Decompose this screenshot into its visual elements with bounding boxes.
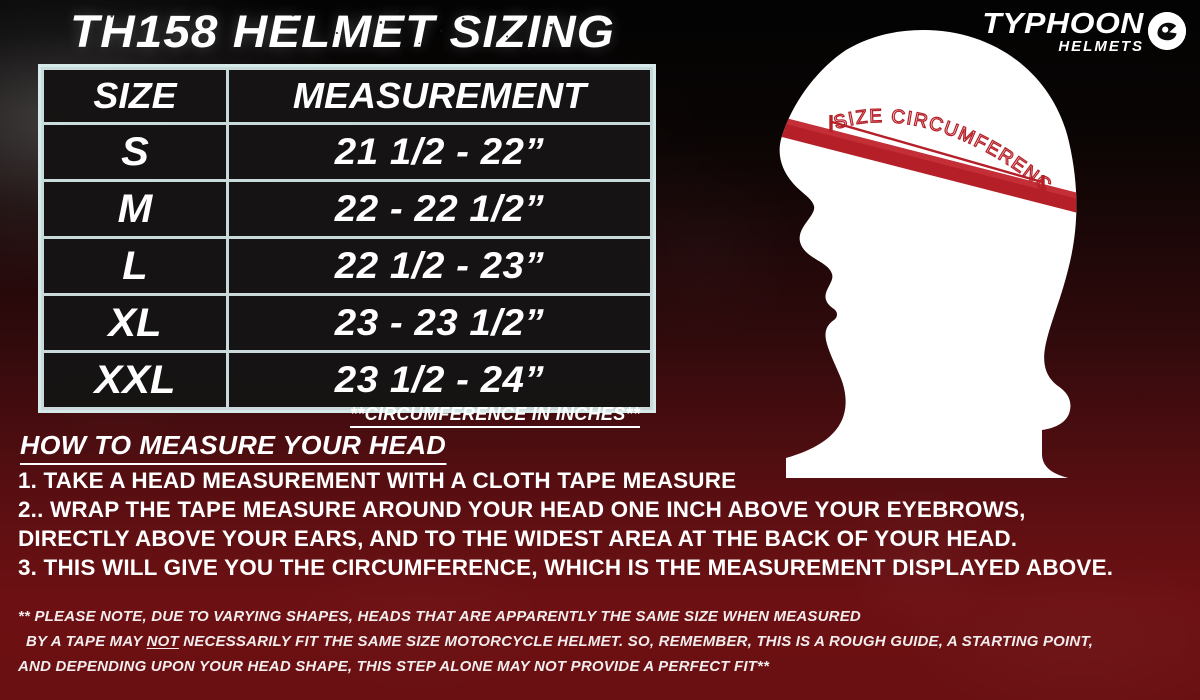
helmet-sizing-infographic: TH158 HELMET SIZING TYPHOON HELMETS SIZE… (0, 0, 1200, 700)
disclaimer-line-1: ** PLEASE NOTE, DUE TO VARYING SHAPES, H… (18, 604, 1188, 629)
measurement-value: 22 1/2 - 23” (221, 245, 659, 287)
table-header-size-label: SIZE (40, 75, 229, 117)
disclaimer-line-2-part-b: NECESSARILY FIT THE SAME SIZE MOTORCYCLE… (179, 633, 1093, 650)
table-row: L 22 1/2 - 23” (44, 239, 650, 293)
measurement-value: 23 1/2 - 24” (221, 359, 659, 401)
cell-measurement: 21 1/2 - 22” (229, 125, 650, 179)
size-value: M (40, 187, 229, 232)
table-header-measurement-label: MEASUREMENT (221, 75, 659, 117)
disclaimer-line-2: BY A TAPE MAY NOT NECESSARILY FIT THE SA… (18, 629, 1188, 654)
table-footnote: **CIRCUMFERENCE IN INCHES** (350, 404, 640, 428)
howto-heading: HOW TO MEASURE YOUR HEAD (20, 430, 446, 465)
size-value: XL (40, 301, 229, 346)
cell-measurement: 22 - 22 1/2” (229, 182, 650, 236)
disclaimer: ** PLEASE NOTE, DUE TO VARYING SHAPES, H… (18, 604, 1188, 679)
table-row: XL 23 - 23 1/2” (44, 296, 650, 350)
table-header-measurement: MEASUREMENT (229, 70, 650, 122)
cell-size: S (44, 125, 226, 179)
table-row: S 21 1/2 - 22” (44, 125, 650, 179)
cell-measurement: 23 - 23 1/2” (229, 296, 650, 350)
disclaimer-emphasis-not: NOT (147, 633, 179, 650)
page-title-text: TH158 HELMET SIZING (70, 6, 615, 58)
cell-measurement: 22 1/2 - 23” (229, 239, 650, 293)
howto-step: DIRECTLY ABOVE YOUR EARS, AND TO THE WID… (18, 524, 1200, 553)
howto-step: 2.. WRAP THE TAPE MEASURE AROUND YOUR HE… (18, 495, 1200, 524)
head-profile-silhouette (780, 30, 1078, 478)
size-value: XXL (40, 358, 229, 403)
howto-steps: 1. TAKE A HEAD MEASUREMENT WITH A CLOTH … (18, 466, 1178, 582)
head-measurement-diagram: SIZE CIRCUMFERENCE (742, 18, 1142, 478)
size-value: L (40, 244, 229, 289)
page-title: TH158 HELMET SIZING (70, 6, 615, 58)
measurement-value: 21 1/2 - 22” (221, 131, 659, 173)
size-value: S (40, 130, 229, 175)
disclaimer-line-3: AND DEPENDING UPON YOUR HEAD SHAPE, THIS… (18, 654, 1188, 679)
measurement-value: 22 - 22 1/2” (221, 188, 659, 230)
table-row: M 22 - 22 1/2” (44, 182, 650, 236)
cell-size: XXL (44, 353, 226, 407)
cell-measurement: 23 1/2 - 24” (229, 353, 650, 407)
helmet-icon (1148, 12, 1186, 50)
table-header-size: SIZE (44, 70, 226, 122)
disclaimer-line-2-part-a: BY A TAPE MAY (26, 633, 147, 650)
howto-step: 3. THIS WILL GIVE YOU THE CIRCUMFERENCE,… (18, 553, 1200, 582)
cell-size: XL (44, 296, 226, 350)
table-header-row: SIZE MEASUREMENT (44, 70, 650, 122)
cell-size: M (44, 182, 226, 236)
table-row: XXL 23 1/2 - 24” (44, 353, 650, 407)
sizing-table: SIZE MEASUREMENT S 21 1/2 - 22” M (38, 64, 656, 413)
cell-size: L (44, 239, 226, 293)
measurement-value: 23 - 23 1/2” (221, 302, 659, 344)
